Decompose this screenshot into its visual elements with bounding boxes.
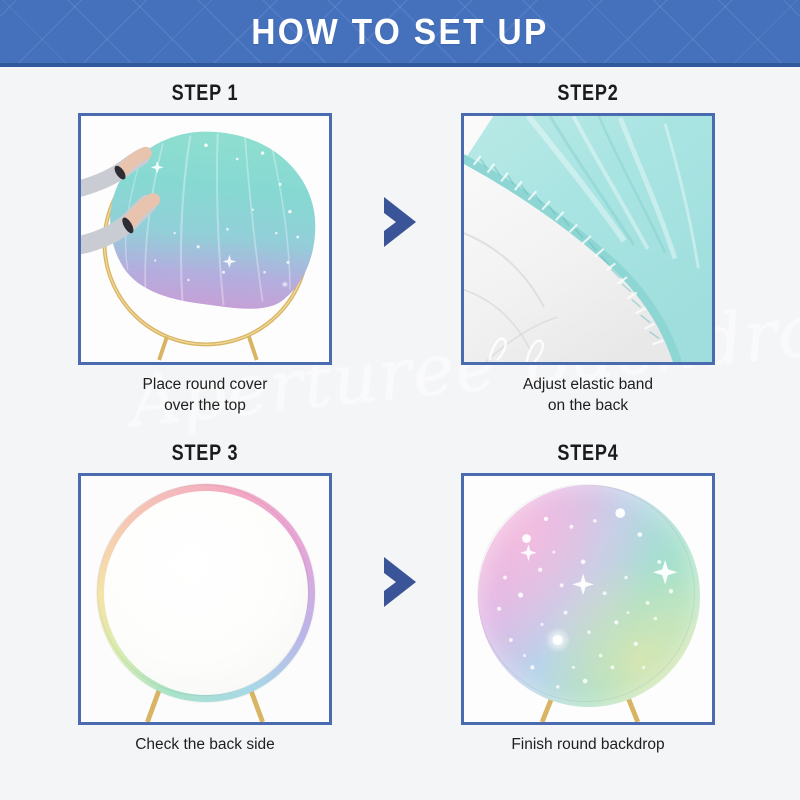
step-caption-1: Place round cover over the top: [55, 374, 355, 417]
step-2-illustration: [464, 116, 712, 362]
step-4-stars: [464, 476, 712, 722]
step-card-3: STEP 3 Check the ba: [55, 440, 355, 755]
step-card-4: STEP4: [438, 440, 738, 755]
step-image-1: [78, 113, 332, 365]
step-label-2: STEP2: [465, 80, 711, 106]
page-header: HOW TO SET UP: [0, 0, 800, 67]
step-card-1: STEP 1: [55, 80, 355, 417]
step-image-2: [461, 113, 715, 365]
step-caption-1-line1: Place round cover: [143, 376, 268, 393]
step-caption-2: Adjust elastic band on the back: [438, 374, 738, 417]
step-1-illustration: [81, 116, 329, 362]
step-caption-2-line2: on the back: [548, 397, 628, 414]
step-label-4: STEP4: [465, 440, 711, 466]
step-image-3: [78, 473, 332, 725]
step-3-overlay: [81, 476, 329, 722]
step-caption-3: Check the back side: [55, 734, 355, 755]
chevron-right-icon: [378, 195, 422, 249]
step-label-1: STEP 1: [82, 80, 328, 106]
steps-grid: STEP 1: [0, 67, 800, 800]
step-image-4: [461, 473, 715, 725]
step-caption-4: Finish round backdrop: [438, 734, 738, 755]
step-caption-4-line1: Finish round backdrop: [511, 736, 664, 753]
step-label-3: STEP 3: [82, 440, 328, 466]
step-caption-2-line1: Adjust elastic band: [523, 376, 653, 393]
step-caption-1-line2: over the top: [164, 397, 246, 414]
page-title: HOW TO SET UP: [251, 11, 548, 53]
chevron-right-icon: [378, 555, 422, 609]
step-caption-3-line1: Check the back side: [135, 736, 275, 753]
step-card-2: STEP2: [438, 80, 738, 417]
